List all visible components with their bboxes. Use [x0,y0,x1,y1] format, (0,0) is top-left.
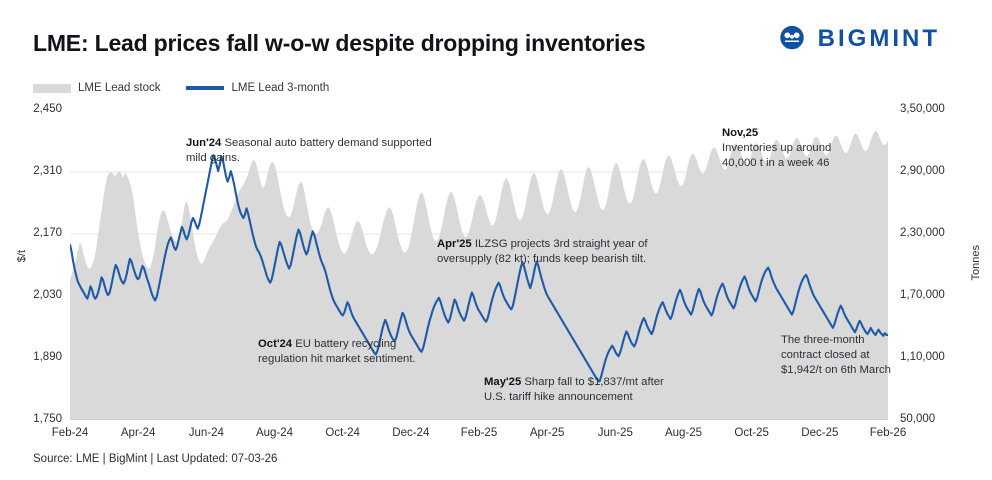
x-axis-tick: Feb-26 [870,427,906,439]
x-axis-tick: Dec-25 [801,427,838,439]
source-note: Source: LME | BigMint | Last Updated: 07… [33,453,277,465]
y-axis-left-tick: 2,450 [33,104,62,116]
x-axis-tick: Apr-24 [121,427,156,439]
annotation-mar26: The three-month contract closed at $1,94… [781,333,896,378]
x-axis-tick: Dec-24 [392,427,429,439]
y-axis-right-tick: 2,30,000 [900,228,945,240]
stock-area-series [70,131,888,420]
y-axis-left-tick: 2,310 [33,166,62,178]
x-axis-tick: Jun-25 [598,427,633,439]
annotation-may25-tag: May'25 [484,376,521,388]
annotation-may25: May'25 Sharp fall to $1,837/mt after U.S… [484,375,674,405]
y-axis-right-tick: 2,90,000 [900,166,945,178]
y-axis-left-tick: 2,170 [33,228,62,240]
y-axis-right: 3,50,0002,90,0002,30,0001,70,0001,10,000… [900,0,990,480]
annotation-oct24: Oct'24 EU battery recycling regulation h… [258,337,418,367]
x-axis-tick: Feb-25 [461,427,497,439]
legend-label-stock: LME Lead stock [78,82,160,94]
bigmint-circle-icon [777,24,807,54]
y-axis-left: 2,4502,3102,1702,0301,8901,750 [0,0,62,480]
y-axis-left-tick: 1,750 [33,414,62,426]
x-axis-tick: Oct-25 [734,427,769,439]
y-axis-right-tick: 50,000 [900,414,935,426]
y-axis-right-tick: 1,10,000 [900,352,945,364]
x-axis-tick: Feb-24 [52,427,88,439]
annotation-mar26-text: The three-month contract closed at $1,94… [781,334,891,376]
annotation-apr25-tag: Apr'25 [437,238,472,250]
legend-item-price[interactable]: LME Lead 3-month [186,82,329,94]
annotation-nov25-tag: Nov,25 [722,127,758,139]
annotation-jun24-text: Seasonal auto battery demand supported m… [186,137,432,164]
annotation-nov25-text: Inventories up around 40,000 t in a week… [722,142,831,169]
y-axis-left-tick: 1,890 [33,352,62,364]
annotation-nov25: Nov,25 Inventories up around 40,000 t in… [722,126,832,171]
x-axis-tick: Jun-24 [189,427,224,439]
y-axis-left-tick: 2,030 [33,290,62,302]
y-axis-right-tick: 3,50,000 [900,104,945,116]
x-axis-tick: Apr-25 [530,427,565,439]
annotation-jun24-tag: Jun'24 [186,137,221,149]
legend-label-price: LME Lead 3-month [231,82,329,94]
x-axis-tick: Aug-25 [665,427,702,439]
x-axis-tick: Aug-24 [256,427,293,439]
annotation-oct24-tag: Oct'24 [258,338,292,350]
page-title: LME: Lead prices fall w-o-w despite drop… [33,30,645,57]
line-swatch-icon [186,86,224,90]
annotation-jun24: Jun'24 Seasonal auto battery demand supp… [186,136,436,166]
x-axis-tick: Oct-24 [325,427,360,439]
chart-legend: LME Lead stock LME Lead 3-month [33,82,329,94]
y-axis-right-tick: 1,70,000 [900,290,945,302]
annotation-apr25: Apr'25 ILZSG projects 3rd straight year … [437,237,687,267]
